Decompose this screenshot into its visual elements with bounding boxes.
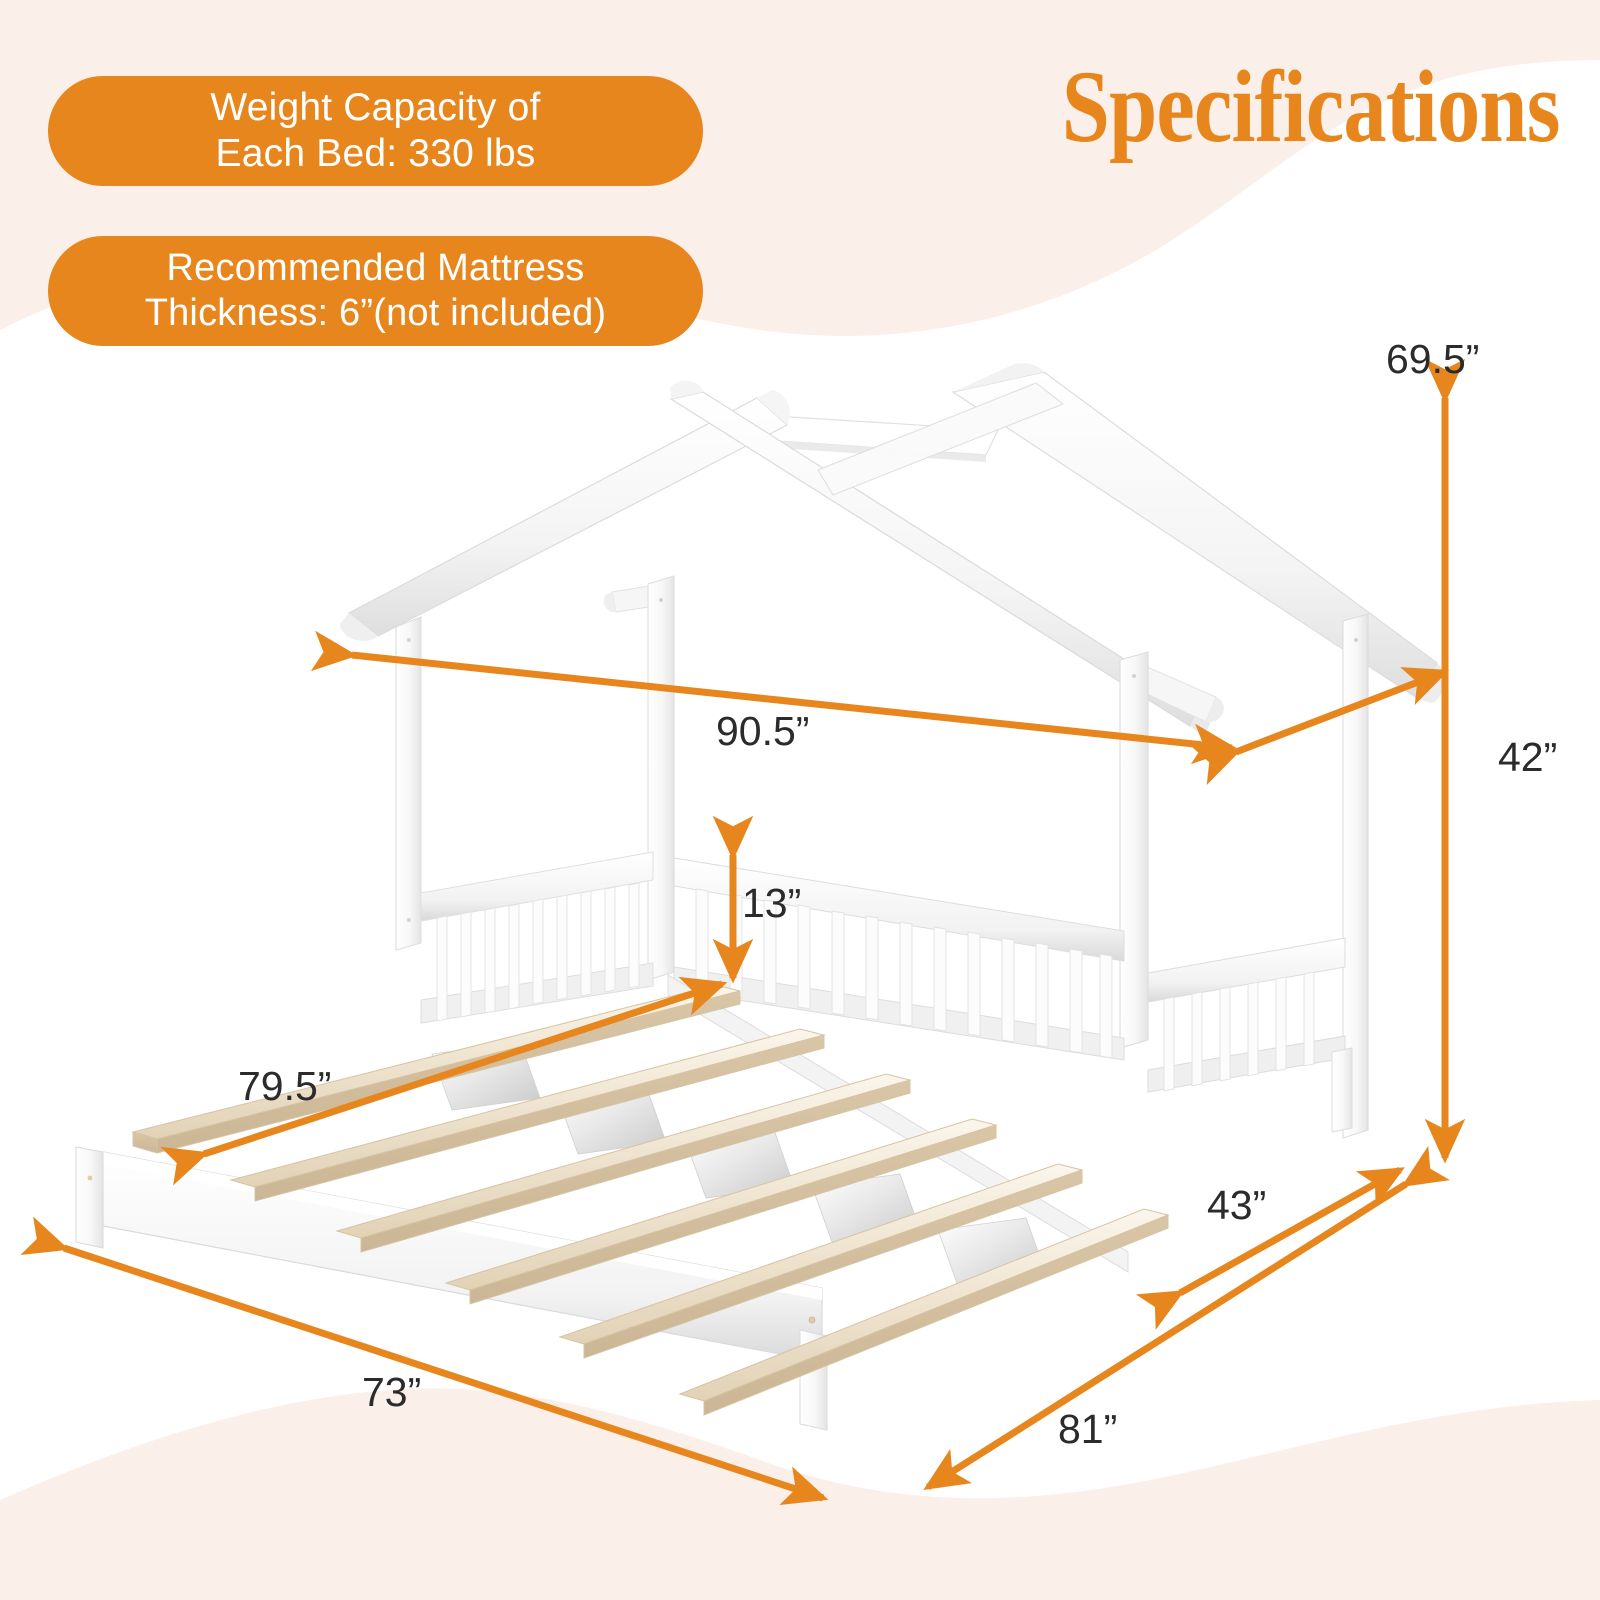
arrow-frame-outer-length [64,1248,823,1498]
arrow-roof-depth [1236,672,1444,752]
badge-mattress-line2: Thickness: 6”(not included) [145,291,607,336]
badge-weight-line1: Weight Capacity of [210,85,540,131]
dimension-label-roof-length: 90.5” [716,708,809,755]
badge-mattress-thickness: Recommended Mattress Thickness: 6”(not i… [48,236,703,346]
dimension-label-roof-depth: 42” [1498,734,1557,781]
arrow-frame-overall-length [928,1184,1406,1487]
dimension-label-frame-width: 43” [1207,1182,1266,1229]
badge-weight-capacity: Weight Capacity of Each Bed: 330 lbs [48,76,703,186]
dimension-label-rail-height: 13” [742,880,801,927]
specification-diagram: Weight Capacity of Each Bed: 330 lbs Rec… [0,0,1600,1600]
page-title: Specifications [1062,56,1560,159]
badge-mattress-line1: Recommended Mattress [145,246,607,291]
dimension-label-overall-height: 69.5” [1386,336,1479,383]
badge-weight-line2: Each Bed: 330 lbs [210,131,540,177]
dimension-label-frame-outer-length: 73” [362,1369,421,1416]
dimension-label-frame-overall-length: 81” [1058,1406,1117,1453]
dimension-label-mattress-length: 79.5” [238,1063,331,1110]
